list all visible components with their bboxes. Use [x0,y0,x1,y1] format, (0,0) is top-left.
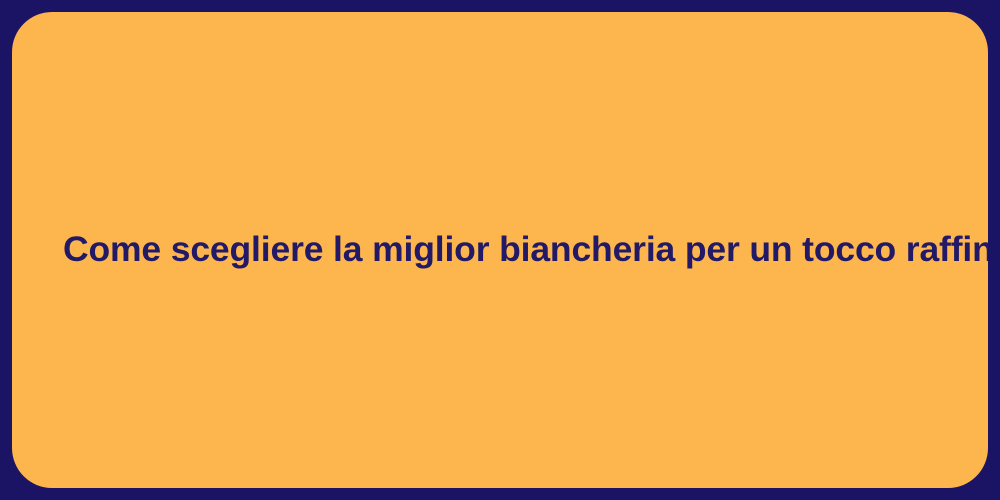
banner-card: Come scegliere la miglior biancheria per… [12,12,988,488]
banner-frame: Come scegliere la miglior biancheria per… [0,0,1000,500]
banner-headline: Come scegliere la miglior biancheria per… [12,229,988,271]
